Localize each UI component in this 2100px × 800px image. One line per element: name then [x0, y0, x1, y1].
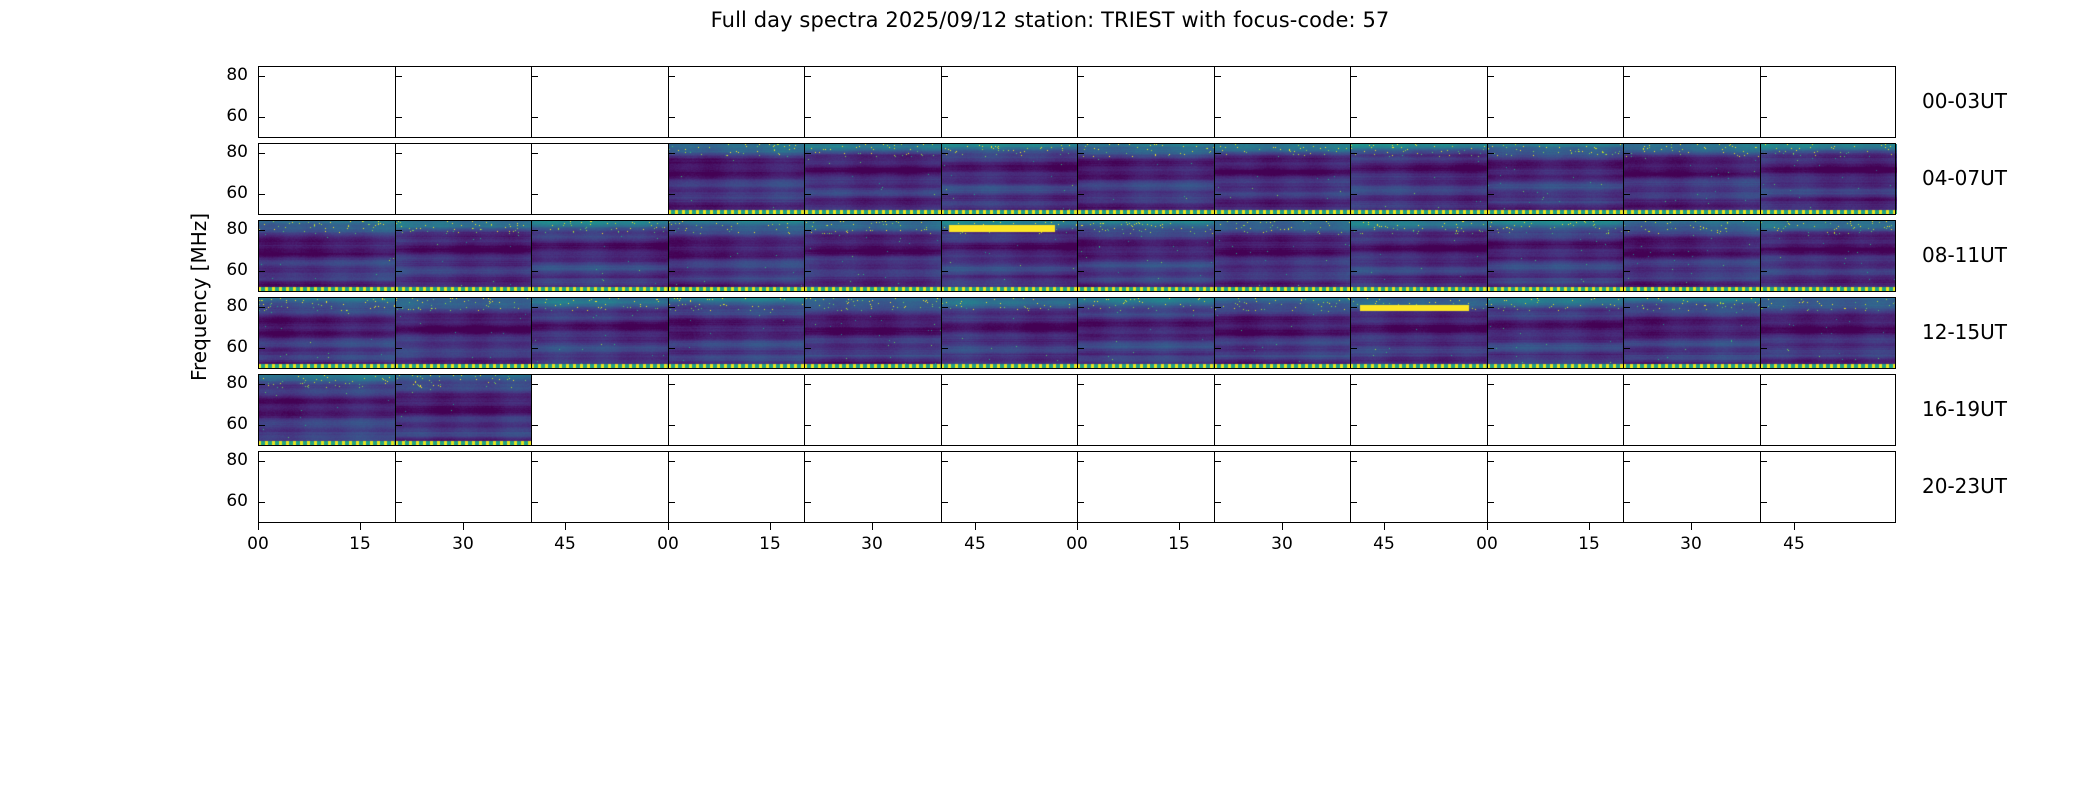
- y-tick-mark: [258, 153, 265, 154]
- y-tick-mark: [258, 307, 265, 308]
- y-tick-mark-inner: [941, 194, 948, 195]
- x-tick-label: 00: [648, 534, 688, 554]
- x-tick-mark: [770, 523, 771, 530]
- spectrogram-row-12-15ut: [258, 297, 1896, 369]
- x-tick-mark: [668, 523, 669, 530]
- x-tick-mark: [463, 523, 464, 530]
- x-tick-mark: [1487, 523, 1488, 530]
- y-tick-mark-inner: [531, 117, 538, 118]
- y-tick-mark-inner: [1214, 117, 1221, 118]
- y-tick-label: 60: [214, 183, 248, 203]
- spectrogram-row-08-11ut: [258, 220, 1896, 292]
- y-tick-mark: [258, 348, 265, 349]
- x-tick-mark: [1282, 523, 1283, 530]
- y-tick-mark-inner: [1214, 271, 1221, 272]
- y-tick-mark-inner: [1077, 271, 1084, 272]
- y-tick-mark-inner: [668, 425, 675, 426]
- row-label-16-19ut: 16-19UT: [1922, 397, 2007, 421]
- y-tick-mark-inner: [804, 76, 811, 77]
- y-tick-mark-inner: [1760, 461, 1767, 462]
- y-tick-mark-inner: [668, 117, 675, 118]
- y-tick-mark-inner: [1214, 307, 1221, 308]
- y-tick-mark-inner: [668, 76, 675, 77]
- y-tick-mark-inner: [1214, 384, 1221, 385]
- y-tick-mark-inner: [395, 271, 402, 272]
- y-tick-mark-inner: [1214, 425, 1221, 426]
- y-tick-mark-inner: [1350, 76, 1357, 77]
- y-tick-mark-inner: [804, 348, 811, 349]
- y-tick-mark-inner: [1760, 307, 1767, 308]
- y-tick-mark-inner: [395, 307, 402, 308]
- y-tick-mark-inner: [1350, 194, 1357, 195]
- y-tick-mark-inner: [1487, 271, 1494, 272]
- y-tick-mark-inner: [941, 425, 948, 426]
- x-tick-mark: [975, 523, 976, 530]
- y-tick-mark: [258, 425, 265, 426]
- y-tick-label: 60: [214, 337, 248, 357]
- y-tick-mark-inner: [1760, 117, 1767, 118]
- y-tick-mark-inner: [531, 194, 538, 195]
- y-tick-mark-inner: [941, 307, 948, 308]
- x-tick-label: 30: [852, 534, 892, 554]
- y-tick-label: 80: [214, 65, 248, 85]
- y-tick-mark-inner: [1350, 271, 1357, 272]
- x-tick-label: 15: [1569, 534, 1609, 554]
- y-tick-mark-inner: [1077, 117, 1084, 118]
- y-tick-mark-inner: [395, 425, 402, 426]
- y-tick-mark-inner: [1077, 230, 1084, 231]
- y-tick-mark-inner: [1487, 153, 1494, 154]
- y-tick-mark-inner: [1350, 307, 1357, 308]
- y-tick-label: 60: [214, 414, 248, 434]
- y-tick-mark: [258, 117, 265, 118]
- y-tick-mark-inner: [395, 384, 402, 385]
- y-tick-mark-inner: [1077, 461, 1084, 462]
- y-tick-mark-inner: [1487, 117, 1494, 118]
- y-tick-mark-inner: [668, 502, 675, 503]
- y-tick-mark-inner: [395, 502, 402, 503]
- y-tick-mark-inner: [1350, 117, 1357, 118]
- y-tick-mark-inner: [941, 502, 948, 503]
- y-tick-label: 80: [214, 450, 248, 470]
- y-tick-mark-inner: [1077, 384, 1084, 385]
- y-tick-label: 80: [214, 142, 248, 162]
- row-label-12-15ut: 12-15UT: [1922, 320, 2007, 344]
- y-tick-mark-inner: [1214, 461, 1221, 462]
- x-tick-label: 00: [1467, 534, 1507, 554]
- y-tick-mark-inner: [941, 461, 948, 462]
- y-tick-mark-inner: [804, 194, 811, 195]
- y-tick-mark-inner: [395, 153, 402, 154]
- x-tick-mark: [1691, 523, 1692, 530]
- y-tick-mark-inner: [1760, 502, 1767, 503]
- y-tick-mark-inner: [395, 194, 402, 195]
- y-tick-mark-inner: [1623, 425, 1630, 426]
- y-tick-mark-inner: [804, 153, 811, 154]
- y-tick-mark-inner: [531, 502, 538, 503]
- y-tick-mark-inner: [1077, 153, 1084, 154]
- y-tick-mark-inner: [1623, 384, 1630, 385]
- x-tick-label: 45: [1364, 534, 1404, 554]
- y-tick-mark-inner: [1214, 230, 1221, 231]
- y-tick-mark-inner: [1623, 194, 1630, 195]
- y-tick-label: 80: [214, 219, 248, 239]
- y-tick-mark-inner: [395, 76, 402, 77]
- y-tick-mark-inner: [1077, 194, 1084, 195]
- x-tick-mark: [258, 523, 259, 530]
- y-tick-mark-inner: [1077, 76, 1084, 77]
- y-tick-mark-inner: [804, 384, 811, 385]
- y-tick-mark-inner: [1760, 194, 1767, 195]
- y-tick-mark-inner: [1623, 461, 1630, 462]
- y-tick-mark-inner: [804, 271, 811, 272]
- y-tick-mark-inner: [804, 230, 811, 231]
- y-tick-mark-inner: [531, 230, 538, 231]
- x-tick-label: 30: [1262, 534, 1302, 554]
- y-tick-mark-inner: [668, 461, 675, 462]
- y-tick-mark-inner: [395, 461, 402, 462]
- y-tick-mark-inner: [531, 271, 538, 272]
- x-tick-mark: [1794, 523, 1795, 530]
- x-tick-label: 30: [1671, 534, 1711, 554]
- x-tick-label: 15: [1159, 534, 1199, 554]
- y-tick-mark-inner: [531, 425, 538, 426]
- y-tick-mark-inner: [1623, 271, 1630, 272]
- y-tick-label: 60: [214, 106, 248, 126]
- x-tick-mark: [565, 523, 566, 530]
- y-tick-mark: [258, 230, 265, 231]
- y-tick-mark-inner: [941, 230, 948, 231]
- page-title: Full day spectra 2025/09/12 station: TRI…: [0, 8, 2100, 32]
- spectrogram-row-04-07ut: [258, 143, 1896, 215]
- y-tick-mark-inner: [1760, 230, 1767, 231]
- y-tick-mark-inner: [1077, 425, 1084, 426]
- y-tick-mark-inner: [804, 461, 811, 462]
- y-tick-mark-inner: [395, 348, 402, 349]
- y-tick-mark-inner: [1623, 348, 1630, 349]
- x-tick-label: 45: [545, 534, 585, 554]
- y-tick-mark-inner: [1214, 194, 1221, 195]
- x-tick-mark: [1077, 523, 1078, 530]
- y-tick-mark-inner: [1760, 425, 1767, 426]
- y-tick-mark-inner: [531, 76, 538, 77]
- y-tick-mark-inner: [668, 307, 675, 308]
- y-tick-mark-inner: [1077, 307, 1084, 308]
- y-tick-mark-inner: [804, 307, 811, 308]
- y-tick-mark-inner: [1623, 502, 1630, 503]
- y-tick-mark-inner: [668, 230, 675, 231]
- y-tick-mark: [258, 384, 265, 385]
- y-tick-mark-inner: [1350, 384, 1357, 385]
- y-tick-mark-inner: [1214, 502, 1221, 503]
- y-tick-mark-inner: [1623, 153, 1630, 154]
- y-tick-mark-inner: [668, 153, 675, 154]
- y-tick-mark-inner: [531, 307, 538, 308]
- x-tick-label: 15: [750, 534, 790, 554]
- y-tick-mark-inner: [1214, 348, 1221, 349]
- y-tick-mark-inner: [1350, 153, 1357, 154]
- row-label-00-03ut: 00-03UT: [1922, 89, 2007, 113]
- x-tick-label: 15: [340, 534, 380, 554]
- y-tick-label: 80: [214, 296, 248, 316]
- x-tick-label: 00: [1057, 534, 1097, 554]
- y-tick-mark-inner: [531, 348, 538, 349]
- x-tick-mark: [360, 523, 361, 530]
- y-tick-mark-inner: [941, 271, 948, 272]
- y-tick-mark-inner: [1760, 271, 1767, 272]
- x-tick-label: 45: [1774, 534, 1814, 554]
- y-tick-mark-inner: [1487, 461, 1494, 462]
- y-tick-mark-inner: [1350, 502, 1357, 503]
- y-tick-mark-inner: [668, 271, 675, 272]
- y-tick-mark: [258, 461, 265, 462]
- y-tick-mark-inner: [1214, 76, 1221, 77]
- y-tick-mark-inner: [1623, 307, 1630, 308]
- y-tick-mark: [258, 271, 265, 272]
- y-tick-label: 60: [214, 491, 248, 511]
- y-tick-mark-inner: [1760, 76, 1767, 77]
- y-tick-mark-inner: [941, 348, 948, 349]
- y-tick-mark-inner: [1487, 230, 1494, 231]
- y-tick-mark-inner: [941, 384, 948, 385]
- y-tick-mark-inner: [1350, 230, 1357, 231]
- y-tick-mark-inner: [1760, 153, 1767, 154]
- spectrogram-row-16-19ut: [258, 374, 1896, 446]
- y-tick-mark-inner: [1077, 348, 1084, 349]
- y-tick-mark-inner: [1350, 348, 1357, 349]
- x-tick-label: 00: [238, 534, 278, 554]
- y-tick-mark: [258, 502, 265, 503]
- y-tick-mark-inner: [941, 76, 948, 77]
- row-label-04-07ut: 04-07UT: [1922, 166, 2007, 190]
- x-tick-mark: [1384, 523, 1385, 530]
- spectrogram-row-20-23ut: [258, 451, 1896, 523]
- y-tick-mark-inner: [941, 117, 948, 118]
- y-tick-mark: [258, 194, 265, 195]
- y-tick-mark-inner: [1077, 502, 1084, 503]
- y-tick-mark-inner: [531, 384, 538, 385]
- y-tick-mark-inner: [804, 117, 811, 118]
- y-tick-mark-inner: [668, 384, 675, 385]
- figure-canvas: Full day spectra 2025/09/12 station: TRI…: [0, 0, 2100, 800]
- x-tick-label: 45: [955, 534, 995, 554]
- y-tick-mark-inner: [941, 153, 948, 154]
- x-tick-mark: [1589, 523, 1590, 530]
- y-tick-mark-inner: [1350, 425, 1357, 426]
- y-tick-mark-inner: [668, 194, 675, 195]
- y-tick-mark-inner: [531, 461, 538, 462]
- y-tick-mark-inner: [1760, 384, 1767, 385]
- y-tick-mark-inner: [1623, 76, 1630, 77]
- y-tick-mark-inner: [1487, 307, 1494, 308]
- y-tick-mark-inner: [395, 230, 402, 231]
- y-axis-label: Frequency [MHz]: [186, 66, 212, 528]
- y-tick-mark-inner: [1487, 502, 1494, 503]
- y-tick-mark-inner: [1487, 384, 1494, 385]
- y-tick-mark-inner: [804, 502, 811, 503]
- y-tick-mark-inner: [395, 117, 402, 118]
- y-tick-mark-inner: [1623, 117, 1630, 118]
- y-tick-mark-inner: [1487, 425, 1494, 426]
- y-tick-mark-inner: [1623, 230, 1630, 231]
- y-tick-mark-inner: [1760, 348, 1767, 349]
- y-tick-mark-inner: [531, 153, 538, 154]
- y-tick-mark-inner: [1487, 76, 1494, 77]
- y-tick-mark-inner: [804, 425, 811, 426]
- y-tick-label: 60: [214, 260, 248, 280]
- spectrogram-row-00-03ut: [258, 66, 1896, 138]
- y-tick-mark-inner: [1214, 153, 1221, 154]
- y-tick-mark: [258, 76, 265, 77]
- x-tick-mark: [1179, 523, 1180, 530]
- row-label-08-11ut: 08-11UT: [1922, 243, 2007, 267]
- y-tick-mark-inner: [668, 348, 675, 349]
- y-tick-label: 80: [214, 373, 248, 393]
- y-tick-mark-inner: [1487, 348, 1494, 349]
- x-tick-label: 30: [443, 534, 483, 554]
- y-tick-mark-inner: [1350, 461, 1357, 462]
- y-tick-mark-inner: [1487, 194, 1494, 195]
- row-label-20-23ut: 20-23UT: [1922, 474, 2007, 498]
- x-tick-mark: [872, 523, 873, 530]
